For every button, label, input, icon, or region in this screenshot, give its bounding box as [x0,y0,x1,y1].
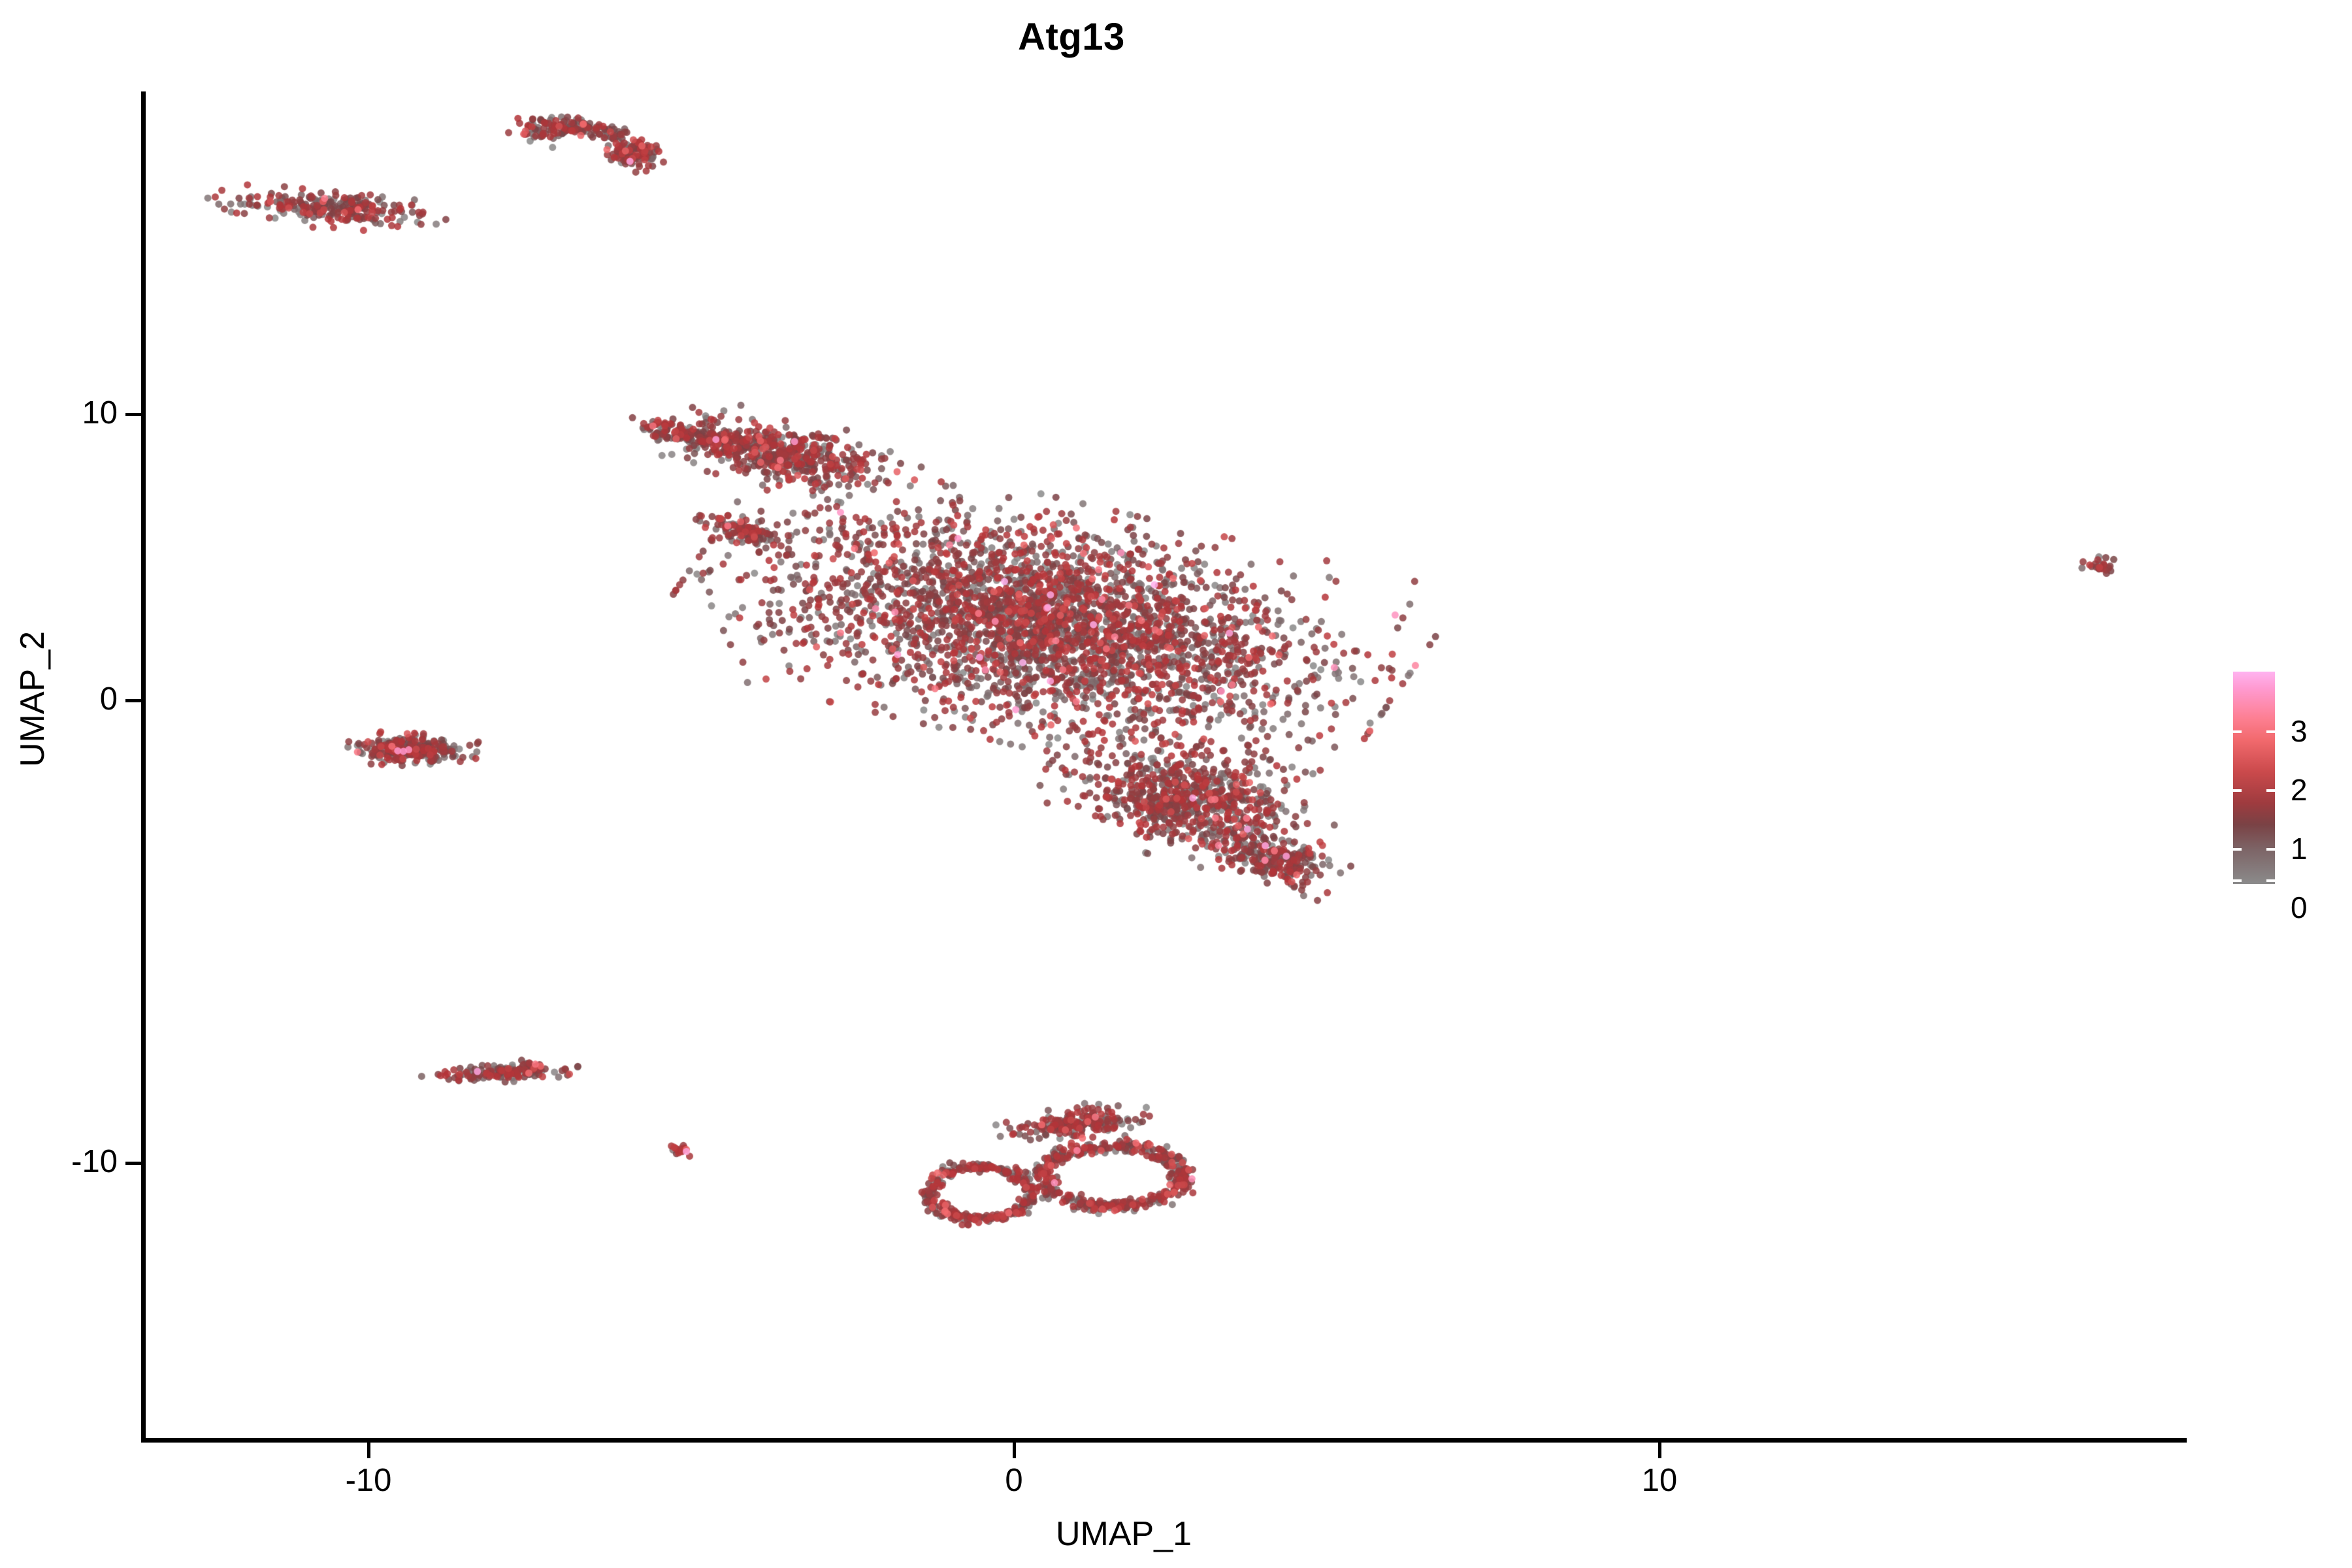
colorbar-gradient [2233,672,2275,884]
y-tick-mark-0 [125,699,141,702]
colorbar-tick-1-left [2233,848,2242,851]
y-tick-mark-10 [125,413,141,416]
colorbar-tick-3-left [2233,730,2242,733]
y-axis-line [141,91,146,1443]
colorbar-label-1: 1 [2291,834,2308,864]
page-title: Atg13 [0,18,2247,56]
plot-panel [145,91,2187,1441]
colorbar-label-3: 3 [2291,716,2308,746]
y-tick-label-10: 10 [0,396,118,431]
y-tick-mark-neg10 [125,1162,141,1165]
x-tick-mark-neg10 [367,1443,370,1458]
x-axis-line [141,1438,2187,1443]
umap-feature-plot: Atg13 -10 0 10 10 0 -10 UMAP_1 UMAP_2 3 … [0,0,2352,1568]
x-tick-label-neg10: -10 [303,1463,434,1499]
scatter-plot-canvas [145,91,2187,1441]
colorbar-tick-3-right [2266,730,2275,733]
x-tick-label-10: 10 [1594,1463,1725,1499]
colorbar-tick-1-right [2266,848,2275,851]
colorbar-label-0: 0 [2291,892,2308,923]
x-tick-mark-0 [1013,1443,1016,1458]
colorbar-tick-2-right [2266,789,2275,792]
colorbar-tick-0-left [2233,879,2242,882]
y-axis-title: UMAP_2 [13,470,52,928]
colorbar-tick-0-right [2266,879,2275,882]
x-tick-mark-10 [1658,1443,1661,1458]
y-tick-label-neg10: -10 [0,1145,118,1180]
x-axis-title: UMAP_1 [0,1514,2300,1554]
colorbar-tick-2-left [2233,789,2242,792]
x-tick-label-0: 0 [949,1463,1079,1499]
legend-colorbar: 3 2 1 0 [2233,666,2347,892]
colorbar-label-2: 2 [2291,775,2308,805]
